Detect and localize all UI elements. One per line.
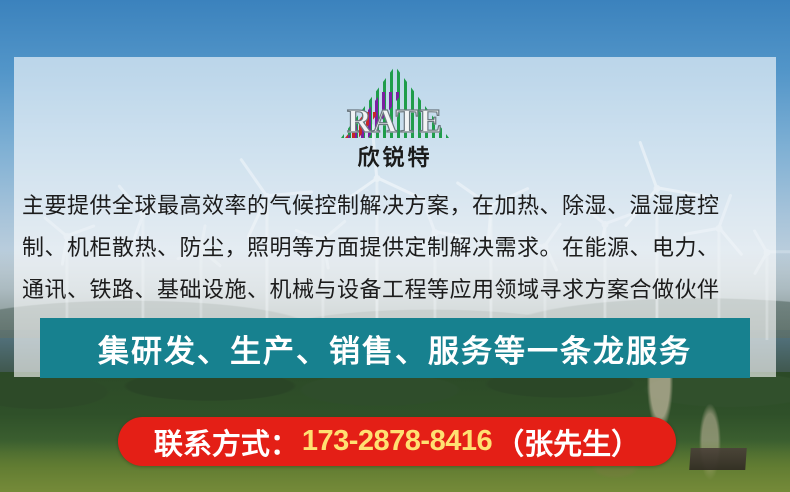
body-line-1: 主要提供全球最高效率的气候控制解决方案，在加热、除湿、温湿度控 (22, 185, 770, 227)
contact-label: 联系方式： (154, 421, 299, 463)
rate-triangle-icon: RATE (341, 66, 449, 138)
logo-wordmark: RATE (347, 103, 443, 141)
brand-logo: RATE 欣锐特 (0, 66, 790, 172)
contact-pill[interactable]: 联系方式： 173-2878-8416 （张先生） (118, 417, 676, 466)
advertisement-banner: RATE 欣锐特 主要提供全球最高效率的气候控制解决方案，在加热、除湿、温湿度控… (0, 0, 790, 492)
body-line-2: 制、机柜散热、防尘，照明等方面提供定制解决需求。在能源、电力、 (22, 227, 770, 269)
body-paragraph: 主要提供全球最高效率的气候控制解决方案，在加热、除湿、温湿度控 制、机柜散热、防… (22, 185, 770, 311)
hillside-hut (689, 448, 747, 470)
contact-person: （张先生） (495, 421, 640, 463)
service-highlight-banner: 集研发、生产、销售、服务等一条龙服务 (40, 318, 750, 378)
service-highlight-text: 集研发、生产、销售、服务等一条龙服务 (98, 326, 692, 371)
logo-chinese-name: 欣锐特 (357, 140, 432, 172)
contact-phone[interactable]: 173-2878-8416 (302, 425, 492, 458)
body-line-3: 通讯、铁路、基础设施、机械与设备工程等应用领域寻求方案合做伙伴 (22, 269, 770, 311)
